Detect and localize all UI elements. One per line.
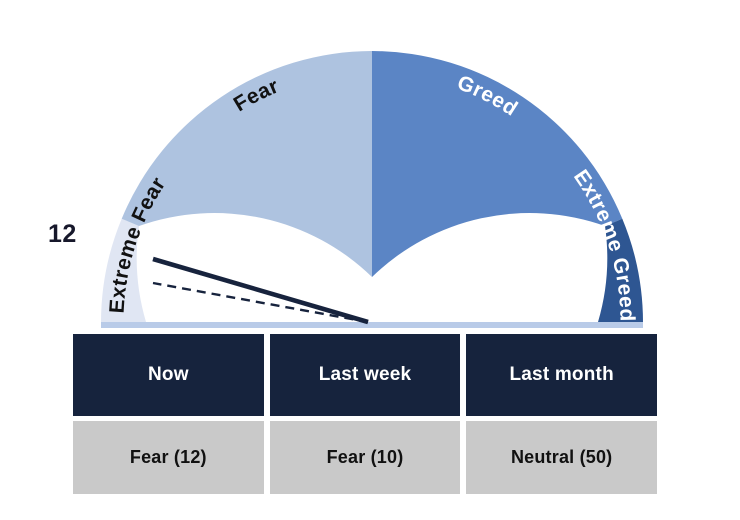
gauge-needles xyxy=(153,259,368,322)
gauge-svg: Extreme Fear Fear Greed Extreme Greed xyxy=(0,0,740,340)
summary-table: Now Last week Last month Fear (12) Fear … xyxy=(73,334,657,494)
gauge-segments xyxy=(101,51,643,322)
gauge-segment-greed xyxy=(372,51,622,277)
table-value-row: Fear (12) Fear (10) Neutral (50) xyxy=(73,421,657,494)
table-header-last-month: Last month xyxy=(466,334,657,416)
gauge-segment-fear xyxy=(122,51,372,277)
table-header-row: Now Last week Last month xyxy=(73,334,657,416)
table-header-now: Now xyxy=(73,334,264,416)
table-value-last-month: Neutral (50) xyxy=(466,421,657,494)
table-header-last-week: Last week xyxy=(270,334,461,416)
gauge-chart: Extreme Fear Fear Greed Extreme Greed xyxy=(0,0,740,340)
fear-greed-gauge-panel: Extreme Fear Fear Greed Extreme Greed xyxy=(0,0,740,520)
table-value-last-week: Fear (10) xyxy=(270,421,461,494)
gauge-baseline xyxy=(101,322,643,328)
gauge-value-readout: 12 xyxy=(48,222,77,247)
table-value-now: Fear (12) xyxy=(73,421,264,494)
gauge-needle-now xyxy=(153,259,368,322)
